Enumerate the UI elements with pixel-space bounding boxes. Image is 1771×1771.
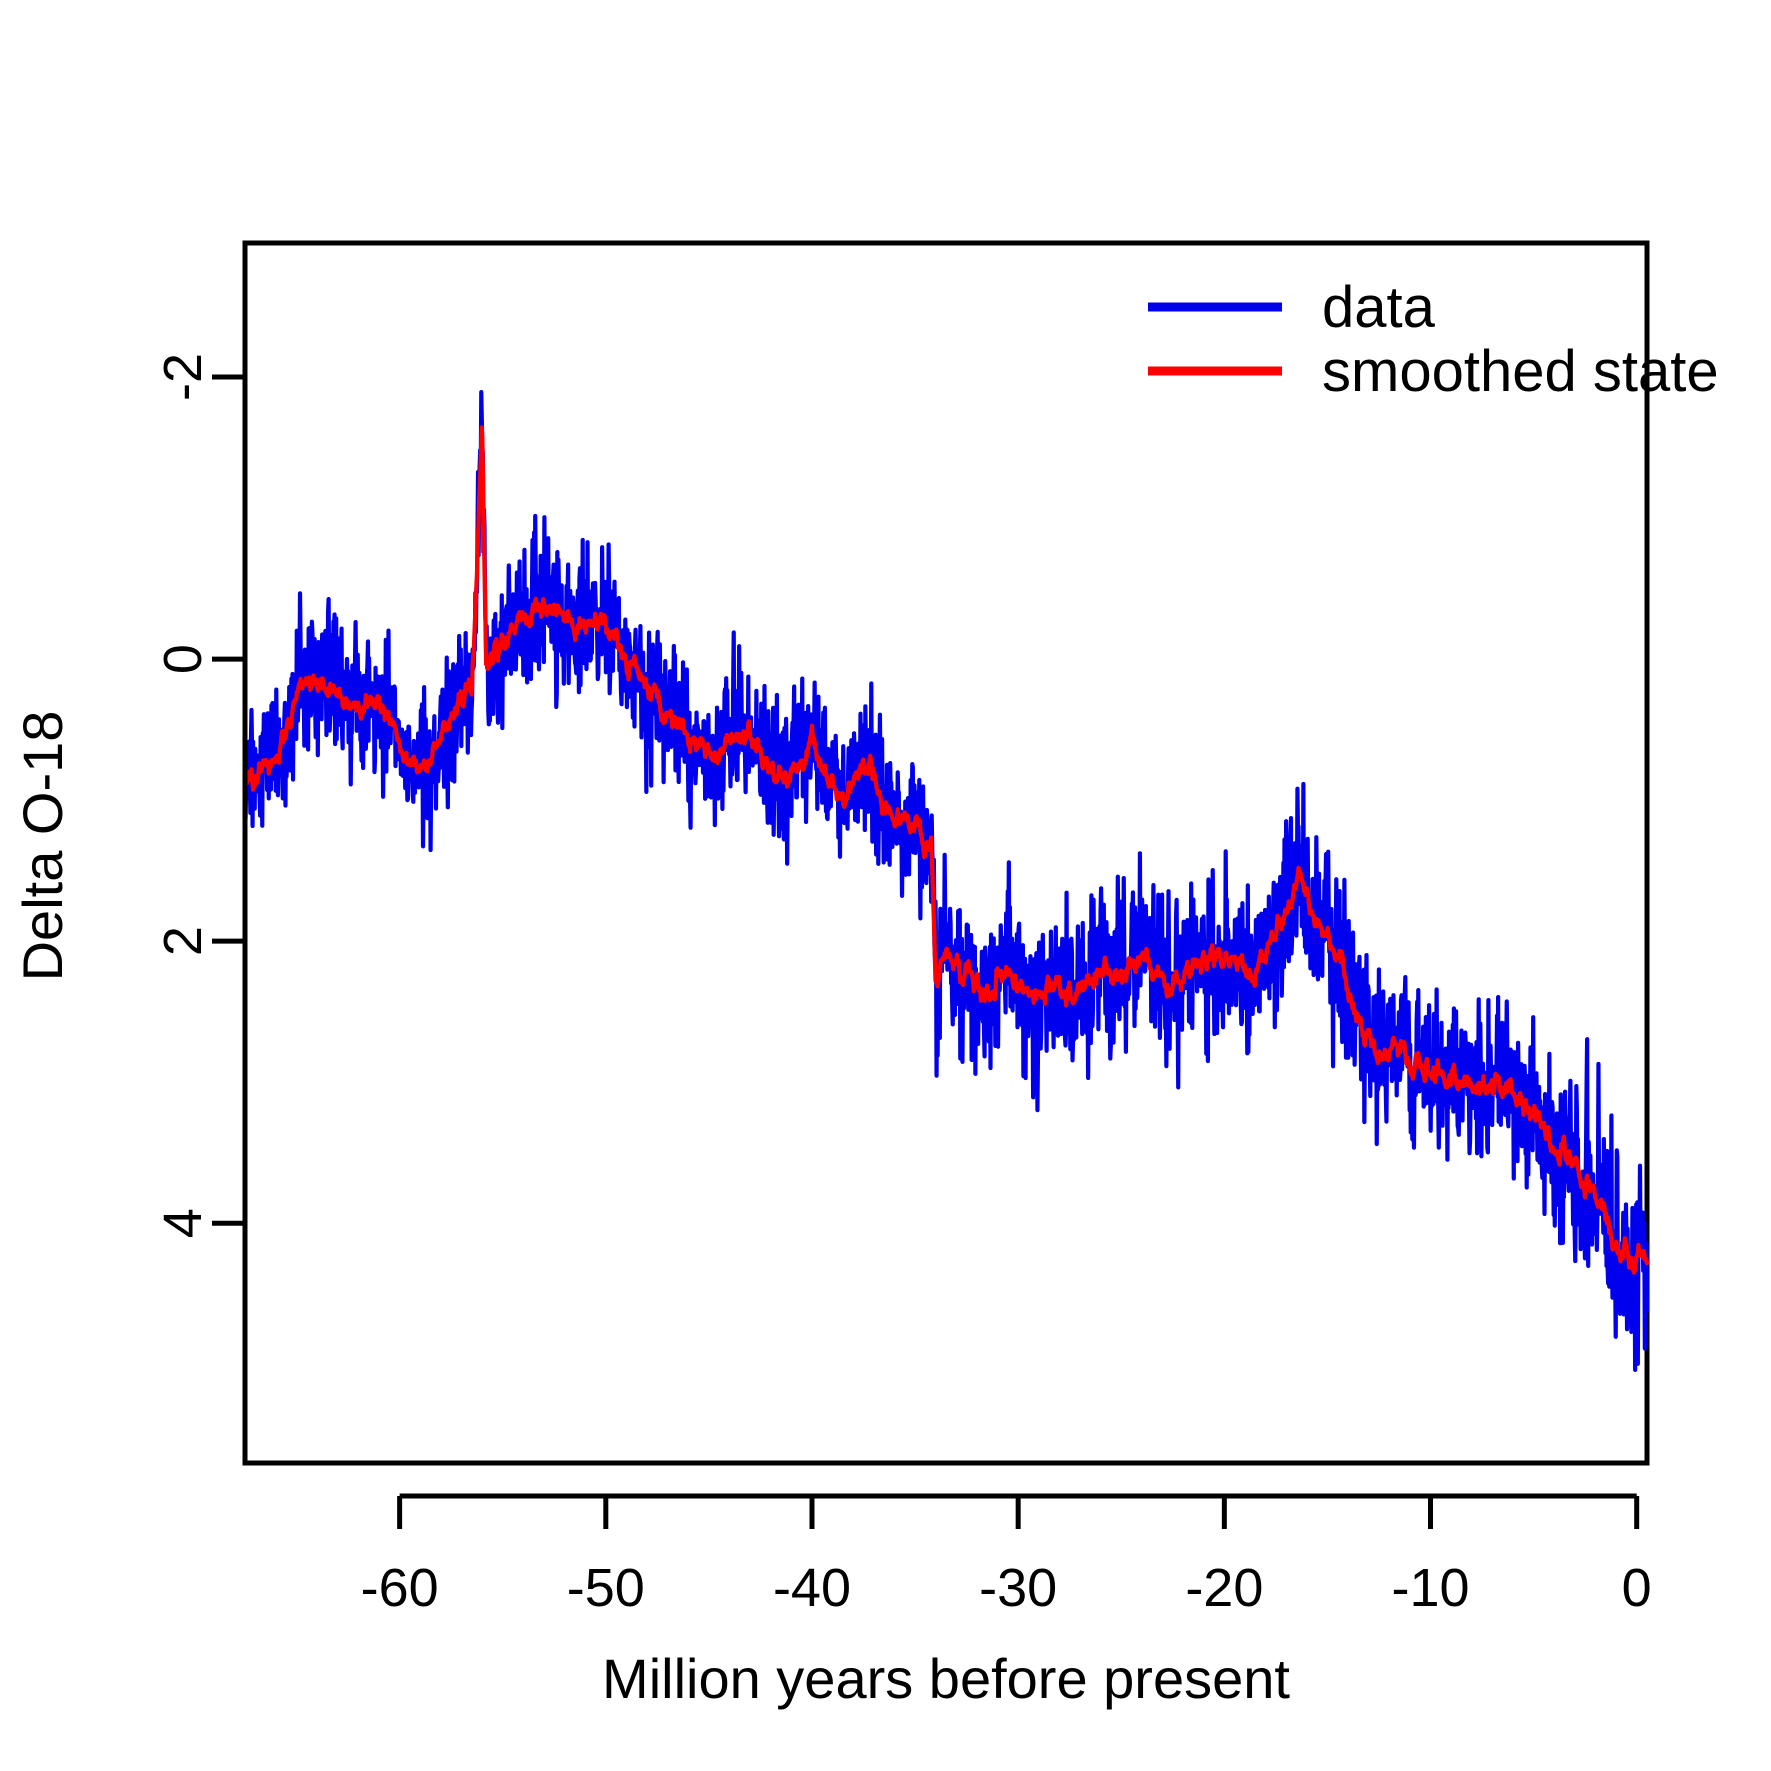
delta-o18-line-chart: -2024 -60-50-40-30-20-100 Delta O-18 Mil… [0,0,1771,1771]
x-axis-tick-label: -20 [1185,1558,1263,1618]
y-axis-tick-label: 2 [153,926,213,956]
y-axis-tick-label: 0 [153,644,213,674]
x-axis-tick-label: -10 [1391,1558,1469,1618]
x-axis-tick-label: -40 [773,1558,851,1618]
chart-figure: -2024 -60-50-40-30-20-100 Delta O-18 Mil… [0,0,1771,1771]
legend-label-smoothed-state: smoothed state [1322,339,1719,404]
x-axis-tick-label: -30 [979,1558,1057,1618]
y-axis-title: Delta O-18 [11,711,74,982]
x-axis-tick-label: 0 [1622,1558,1652,1618]
y-axis-tick-label: 4 [153,1208,213,1238]
x-axis-title: Million years before present [602,1647,1290,1710]
figure-background [0,0,1771,1771]
y-axis-tick-label: -2 [153,353,213,401]
legend-label-data: data [1322,275,1436,340]
x-axis-tick-label: -60 [361,1558,439,1618]
x-axis-tick-label: -50 [567,1558,645,1618]
